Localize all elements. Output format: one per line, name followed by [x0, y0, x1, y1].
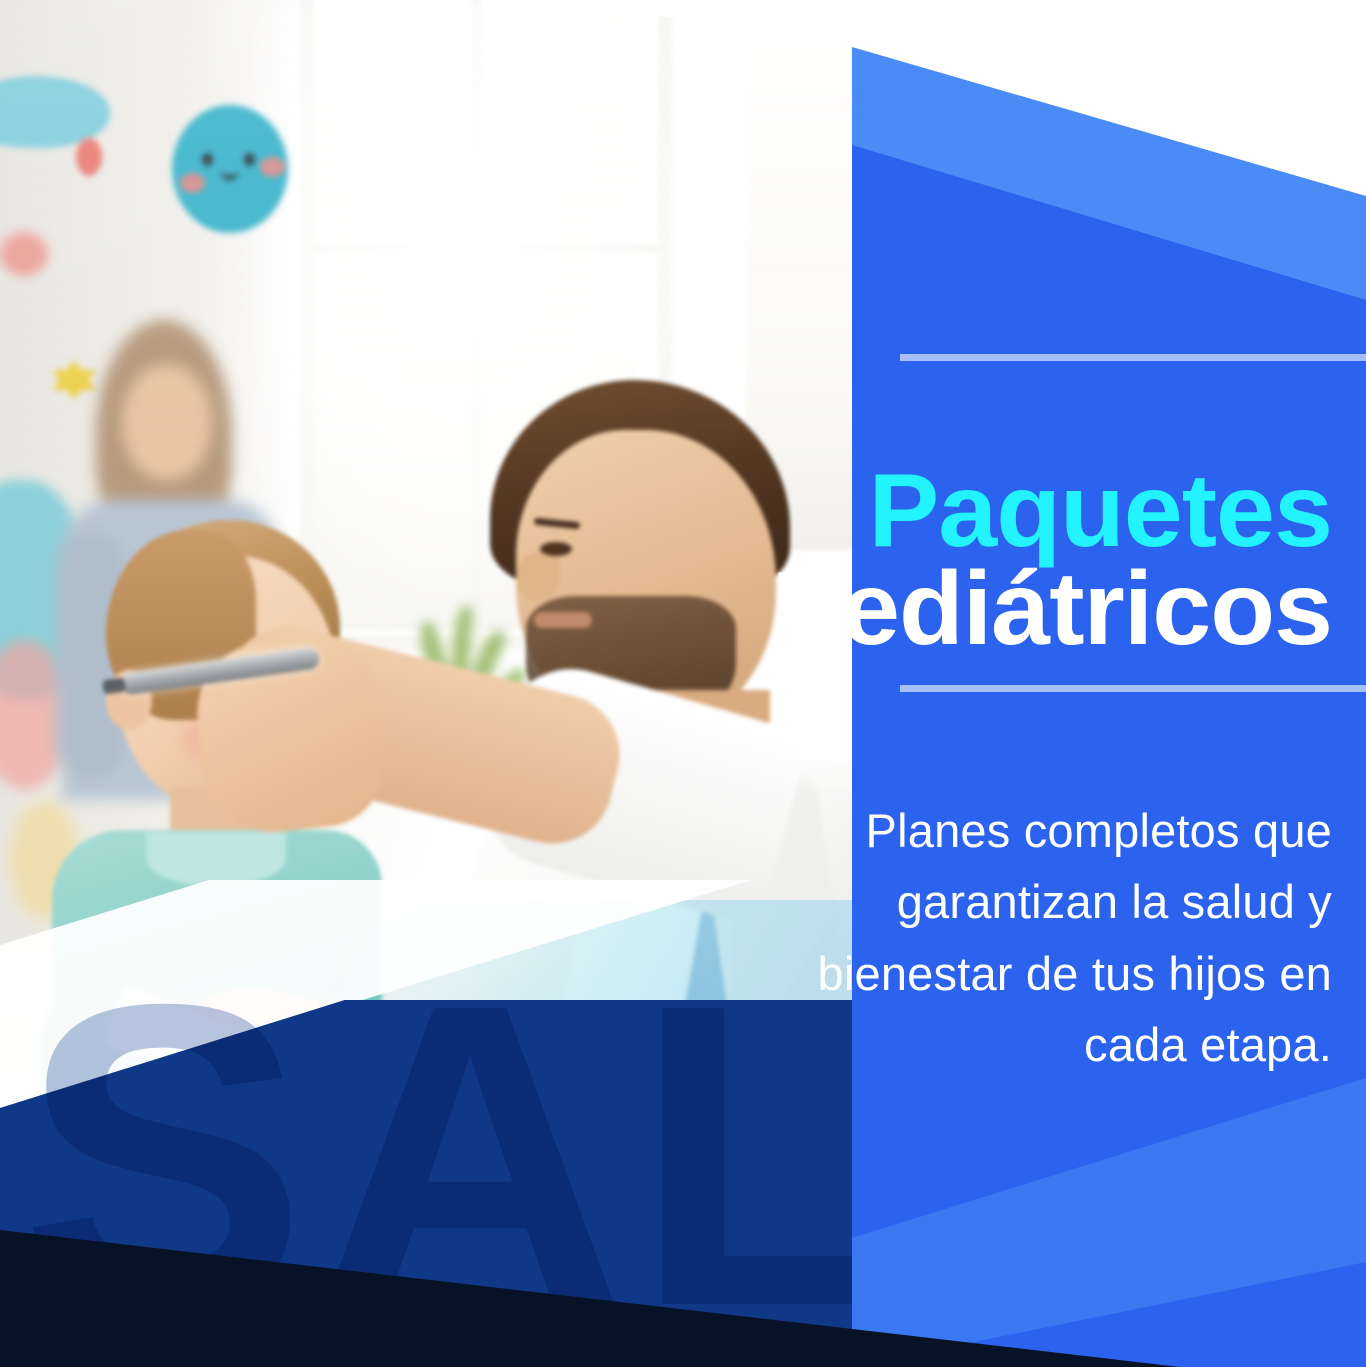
divider-bottom	[900, 685, 1366, 692]
headline-line-2: Pediátricos	[0, 560, 1332, 659]
promotional-poster: SALUD Paquetes Pediátricos Planes comple…	[0, 0, 1366, 1367]
divider-top	[900, 354, 1366, 361]
page-title: Paquetes Pediátricos	[0, 462, 1332, 660]
subtitle-text: Planes completos que garantizan la salud…	[706, 795, 1332, 1081]
text-content: Paquetes Pediátricos Planes completos qu…	[0, 0, 1366, 1367]
headline-line-1: Paquetes	[0, 462, 1332, 561]
